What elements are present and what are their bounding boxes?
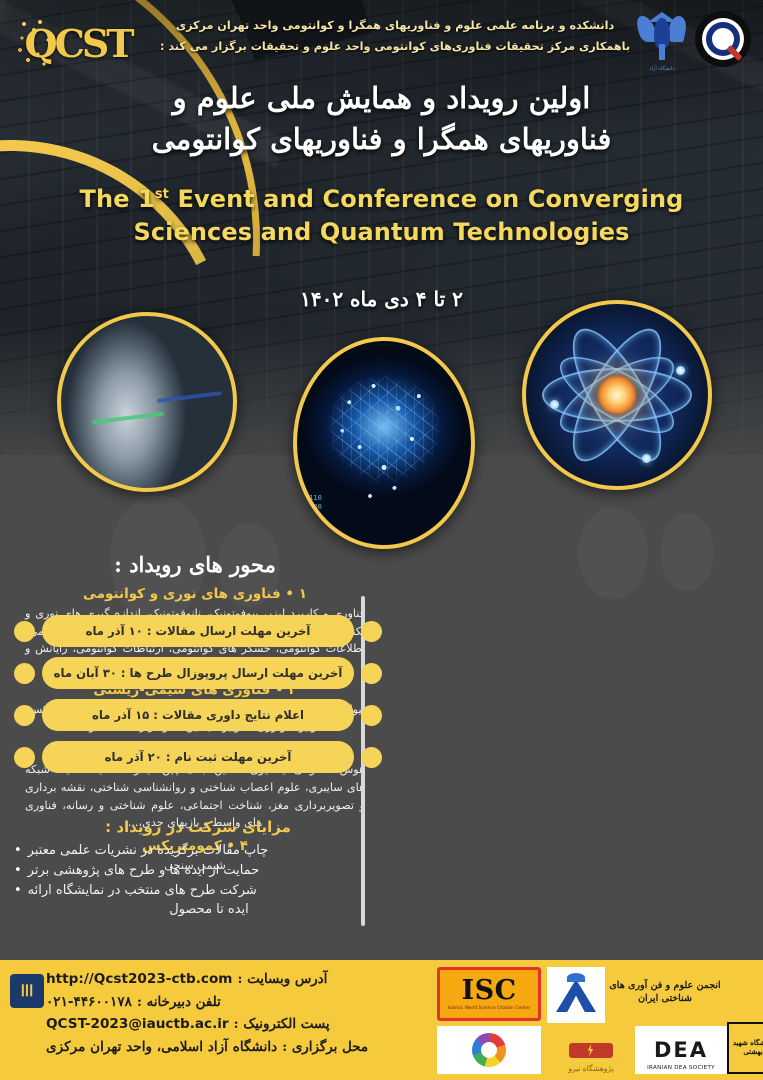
- deadline-row: آخرین مهلت ارسال مقالات : ۱۰ آذر ماه: [14, 615, 382, 647]
- dea-society-logo: DEA IRANIAN DEA SOCIETY: [635, 1026, 727, 1074]
- atom-nucleus: [597, 375, 637, 415]
- shahid-beheshti-university-logo: دانشگاه شهید بهشتی: [727, 1022, 763, 1074]
- bullet-dot-icon: [14, 663, 35, 684]
- dea-logo-subtitle: IRANIAN DEA SOCIETY: [635, 1065, 727, 1071]
- gear-ring-icon: [472, 1033, 506, 1067]
- email-value[interactable]: QCST-2023@iauctb.ac.ir: [46, 1013, 229, 1035]
- phone-value: ۰۲۱-۴۴۶۰۰۱۷۸: [46, 991, 132, 1013]
- contact-website-row: آدرس وبسایت : http://Qcst2023-ctb.com: [0, 968, 417, 991]
- benefit-continuation: ایده تا محصول: [14, 900, 382, 920]
- benefit-text: چاپ مقالات برگزیده در نشریات علمی معتبر: [28, 841, 269, 861]
- organizer-line-1: دانشکده و برنامه علمی علوم و فناوریهای ه…: [145, 16, 645, 37]
- ordinal-suffix: st: [155, 187, 169, 202]
- email-label: پست الکترونیک :: [234, 1014, 330, 1036]
- topic-label: فناوری های نوری و کوانتومی: [83, 586, 281, 602]
- atom-orbit-image: [522, 300, 712, 490]
- contact-phone-row: تلفن دبیرخانه : ۰۲۱-۴۴۶۰۰۱۷۸: [0, 991, 417, 1014]
- title-en-rest: Event and Conference on Converging: [177, 185, 683, 213]
- benefit-item: حمایت از ایده ها و طرح های پژوهشی برتر •: [14, 861, 382, 881]
- deadline-row: اعلام نتایج داوری مقالات : ۱۵ آذر ماه: [14, 699, 382, 731]
- iau-subtitle: دانشگاه آزاد: [637, 66, 687, 72]
- bullet-icon: •: [14, 861, 22, 881]
- header-logo-group: دانشگاه آزاد: [637, 8, 751, 70]
- organizer-header: دانشکده و برنامه علمی علوم و فناوریهای ه…: [145, 16, 645, 57]
- dea-logo-text: DEA: [654, 1040, 708, 1061]
- binary-digits-overlay: 0110010010011001: [305, 494, 322, 529]
- electron-dot: [642, 454, 651, 463]
- bullet-dot-icon: [14, 705, 35, 726]
- title-en-line-1: The 1st Event and Conference on Convergi…: [0, 183, 763, 216]
- contact-email-row: پست الکترونیک : QCST-2023@iauctb.ac.ir: [0, 1013, 417, 1036]
- deadline-pill: اعلام نتایج داوری مقالات : ۱۵ آذر ماه: [42, 699, 354, 731]
- benefit-item: چاپ مقالات برگزیده در نشریات علمی معتبر …: [14, 841, 382, 861]
- title-en-line-2: Sciences and Quantum Technologies: [0, 216, 763, 249]
- deadline-row: آخرین مهلت ثبت نام : ۲۰ آذر ماه: [14, 741, 382, 773]
- deadline-row: آخرین مهلت ارسال پروپوزال طرح ها : ۳۰ آب…: [14, 657, 382, 689]
- cognitive-logo-shape: [556, 978, 596, 1012]
- title-en-prefix: The 1: [80, 185, 155, 213]
- deadline-pill: آخرین مهلت ثبت نام : ۲۰ آذر ماه: [42, 741, 354, 773]
- bullet-dot-icon: [14, 621, 35, 642]
- isc-logo-subtitle: Islamic World Science Citation Center: [448, 1006, 530, 1011]
- isc-logo: ISC Islamic World Science Citation Cente…: [437, 967, 541, 1021]
- benefits-section: مزایای شرکت در رویداد : چاپ مقالات برگزی…: [14, 818, 382, 920]
- venue-label: محل برگزاری :: [282, 1037, 368, 1059]
- colorful-gear-logo: [437, 1026, 541, 1074]
- deadlines-section: آخرین مهلت ارسال مقالات : ۱۰ آذر ماه آخر…: [14, 615, 382, 783]
- benefit-text: حمایت از ایده ها و طرح های پژوهشی برتر: [28, 861, 260, 881]
- topic-bullet: •: [285, 586, 294, 602]
- quantum-research-center-logo: [695, 11, 751, 67]
- contact-info: ااا آدرس وبسایت : http://Qcst2023-ctb.co…: [0, 960, 427, 1080]
- decorative-blob: [660, 513, 714, 591]
- contact-venue-row: محل برگزاری : دانشگاه آزاد اسلامی، واحد …: [0, 1036, 417, 1059]
- phone-label: تلفن دبیرخانه :: [137, 992, 221, 1014]
- cognitive-logo-dome: [567, 973, 585, 982]
- bullet-dot-icon: [361, 705, 382, 726]
- lightning-bolt-icon: [569, 1043, 613, 1058]
- electron-dot: [550, 400, 559, 409]
- topic-title: ۱ • فناوری های نوری و کوانتومی: [25, 586, 365, 602]
- decorative-blob: [578, 507, 648, 599]
- qcst-logo: QCST: [14, 12, 142, 74]
- bullet-dot-icon: [14, 747, 35, 768]
- gear-logo-caption: [530, 1038, 533, 1047]
- topic-number: ۱: [299, 586, 307, 602]
- institution-icon: ااا: [10, 974, 44, 1008]
- topics-heading: محور های رویداد :: [25, 552, 365, 577]
- title-fa-line-1: اولین رویداد و همایش ملی علوم و: [0, 78, 763, 119]
- niro-logo-text: پژوهشگاه نیرو: [547, 1064, 635, 1073]
- deadline-pill: آخرین مهلت ارسال مقالات : ۱۰ آذر ماه: [42, 615, 354, 647]
- title-fa-line-2: فناوریهای همگرا و فناوریهای کوانتومی: [0, 119, 763, 160]
- circuit-nodes: [297, 341, 471, 545]
- bullet-dot-icon: [361, 621, 382, 642]
- benefits-heading: مزایای شرکت در رویداد :: [14, 818, 382, 836]
- footer-bar: ISC Islamic World Science Citation Cente…: [0, 960, 763, 1080]
- pixel-dots-decoration: [18, 20, 64, 68]
- organizer-line-2: باهمکاری مرکز تحقیقات فناوری‌های کوانتوم…: [145, 37, 645, 58]
- sponsor-logos: ISC Islamic World Science Citation Cente…: [427, 960, 763, 1080]
- conference-poster: QCST دانشکده و برنامه علمی علوم و فناوری…: [0, 0, 763, 1080]
- sbu-logo-text: دانشگاه شهید بهشتی: [729, 1039, 763, 1057]
- cognitive-society-logo: [547, 967, 605, 1023]
- deadline-pill: آخرین مهلت ارسال پروپوزال طرح ها : ۳۰ آب…: [42, 657, 354, 689]
- website-value[interactable]: http://Qcst2023-ctb.com: [46, 968, 232, 990]
- benefit-item: شرکت طرح های منتخب در نمایشگاه ارائه •: [14, 881, 382, 901]
- isc-logo-inner: ISC Islamic World Science Citation Cente…: [440, 970, 538, 1018]
- objective-blue-band: [157, 391, 222, 403]
- bullet-icon: •: [14, 841, 22, 861]
- logo-stem-shape: [659, 44, 665, 60]
- niro-research-institute-logo: پژوهشگاه نیرو: [547, 1026, 635, 1074]
- electron-dot: [676, 366, 685, 375]
- digital-brain-circuit-image: 0110010010011001: [293, 337, 475, 549]
- cognitive-society-name: انجمن علوم و فن آوری های شناختی ایران: [609, 980, 721, 1006]
- isc-logo-text: ISC: [461, 977, 516, 1004]
- microscope-objectives-image: [57, 312, 237, 492]
- objective-green-band: [92, 411, 164, 424]
- website-label: آدرس وبسایت :: [237, 969, 327, 991]
- bullet-icon: •: [14, 881, 22, 901]
- institution-glyph: ااا: [21, 982, 34, 1000]
- bullet-dot-icon: [361, 663, 382, 684]
- islamic-azad-university-logo: دانشگاه آزاد: [637, 8, 687, 70]
- venue-value: دانشگاه آزاد اسلامی، واحد تهران مرکزی: [46, 1036, 277, 1058]
- page-title-persian: اولین رویداد و همایش ملی علوم و فناوریها…: [0, 78, 763, 160]
- benefit-text: شرکت طرح های منتخب در نمایشگاه ارائه: [28, 881, 257, 901]
- bullet-dot-icon: [361, 747, 382, 768]
- page-title-english: The 1st Event and Conference on Convergi…: [0, 183, 763, 249]
